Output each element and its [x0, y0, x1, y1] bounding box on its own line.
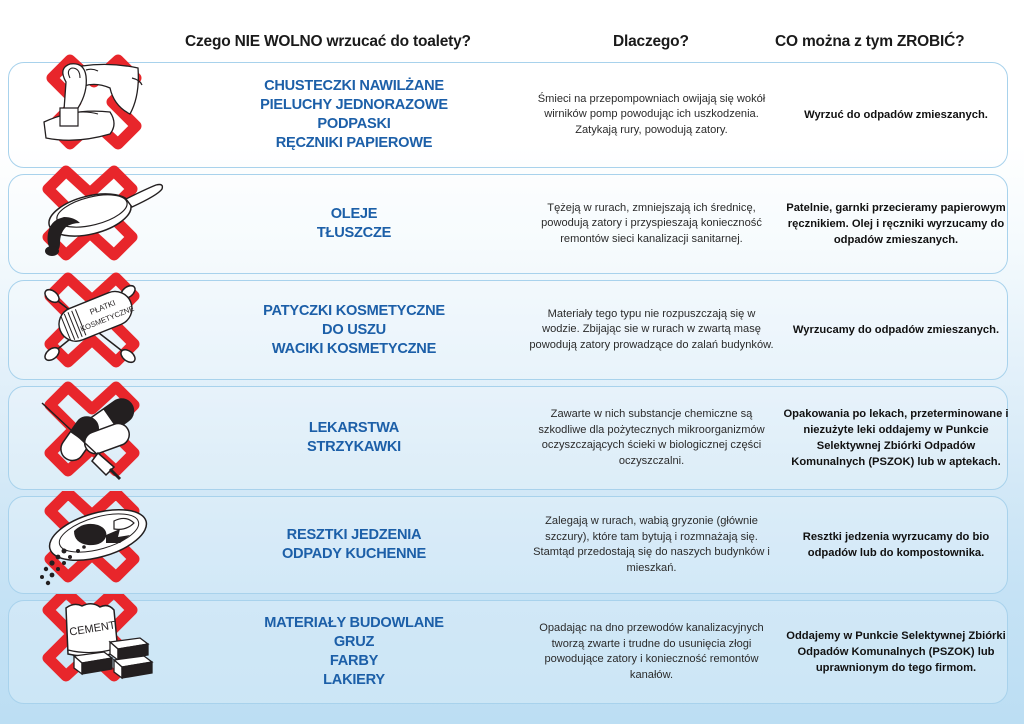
reason-text: Śmieci na przepompowniach owijają się wo…: [529, 92, 774, 139]
row-item-names: CHUSTECZKI NAWILŻANE PIELUCHY JEDNORAZOW…: [189, 63, 519, 167]
row-reason: Zawarte w nich substancje chemiczne są s…: [529, 387, 774, 489]
row-reason: Opadając na dno przewodów kanalizacyjnyc…: [529, 601, 774, 703]
item-line: MATERIAŁY BUDOWLANE: [264, 614, 444, 633]
item-line: GRUZ: [334, 633, 374, 652]
row-action: Wyrzuć do odpadów zmieszanych.: [781, 63, 1011, 167]
reason-text: Tężeją w rurach, zmniejszają ich średnic…: [529, 201, 774, 248]
table-row: PATYCZKI KOSMETYCZNE DO USZU WACIKI KOSM…: [8, 280, 1008, 380]
row-reason: Śmieci na przepompowniach owijają się wo…: [529, 63, 774, 167]
table-row: MATERIAŁY BUDOWLANE GRUZ FARBY LAKIERY O…: [8, 600, 1008, 704]
row-item-names: PATYCZKI KOSMETYCZNE DO USZU WACIKI KOSM…: [189, 281, 519, 379]
row-item-names: RESZTKI JEDZENIA ODPADY KUCHENNE: [189, 497, 519, 593]
action-text: Opakowania po lekach, przeterminowane i …: [781, 406, 1011, 470]
item-line: PATYCZKI KOSMETYCZNE: [263, 302, 445, 321]
action-text: Patelnie, garnki przecieramy papierowym …: [781, 200, 1011, 248]
row-action: Wyrzucamy do odpadów zmieszanych.: [781, 281, 1011, 379]
row-action: Oddajemy w Punkcie Selektywnej Zbiórki O…: [781, 601, 1011, 703]
row-item-names: LEKARSTWA STRZYKAWKI: [189, 387, 519, 489]
row-action: Opakowania po lekach, przeterminowane i …: [781, 387, 1011, 489]
row-item-names: OLEJE TŁUSZCZE: [189, 175, 519, 273]
item-line: PIELUCHY JEDNORAZOWE: [260, 96, 448, 115]
item-line: RESZTKI JEDZENIA: [287, 526, 422, 545]
item-line: RĘCZNIKI PAPIEROWE: [276, 134, 433, 153]
info-rows: CHUSTECZKI NAWILŻANE PIELUCHY JEDNORAZOW…: [0, 0, 1024, 724]
item-line: LEKARSTWA: [309, 419, 399, 438]
reason-text: Zawarte w nich substancje chemiczne są s…: [529, 407, 774, 469]
action-text: Wyrzuć do odpadów zmieszanych.: [804, 107, 988, 123]
table-row: LEKARSTWA STRZYKAWKI Zawarte w nich subs…: [8, 386, 1008, 490]
item-line: CHUSTECZKI NAWILŻANE: [264, 77, 444, 96]
table-row: CHUSTECZKI NAWILŻANE PIELUCHY JEDNORAZOW…: [8, 62, 1008, 168]
item-line: OLEJE: [331, 205, 378, 224]
item-line: ODPADY KUCHENNE: [282, 545, 426, 564]
action-text: Resztki jedzenia wyrzucamy do bio odpadó…: [781, 529, 1011, 561]
action-text: Oddajemy w Punkcie Selektywnej Zbiórki O…: [781, 628, 1011, 676]
row-reason: Tężeją w rurach, zmniejszają ich średnic…: [529, 175, 774, 273]
item-line: TŁUSZCZE: [317, 224, 391, 243]
action-text: Wyrzucamy do odpadów zmieszanych.: [793, 322, 999, 338]
reason-text: Zalegają w rurach, wabią gryzonie (główn…: [529, 514, 774, 576]
reason-text: Opadając na dno przewodów kanalizacyjnyc…: [529, 621, 774, 683]
row-reason: Zalegają w rurach, wabią gryzonie (główn…: [529, 497, 774, 593]
row-item-names: MATERIAŁY BUDOWLANE GRUZ FARBY LAKIERY: [189, 601, 519, 703]
item-line: LAKIERY: [323, 671, 385, 690]
item-line: FARBY: [330, 652, 378, 671]
row-action: Resztki jedzenia wyrzucamy do bio odpadó…: [781, 497, 1011, 593]
item-line: DO USZU: [322, 321, 386, 340]
row-action: Patelnie, garnki przecieramy papierowym …: [781, 175, 1011, 273]
item-line: PODPASKI: [317, 115, 390, 134]
table-row: OLEJE TŁUSZCZE Tężeją w rurach, zmniejsz…: [8, 174, 1008, 274]
table-row: RESZTKI JEDZENIA ODPADY KUCHENNE Zalegaj…: [8, 496, 1008, 594]
item-line: WACIKI KOSMETYCZNE: [272, 340, 436, 359]
reason-text: Materiały tego typu nie rozpuszczają się…: [529, 307, 774, 354]
row-reason: Materiały tego typu nie rozpuszczają się…: [529, 281, 774, 379]
item-line: STRZYKAWKI: [307, 438, 401, 457]
